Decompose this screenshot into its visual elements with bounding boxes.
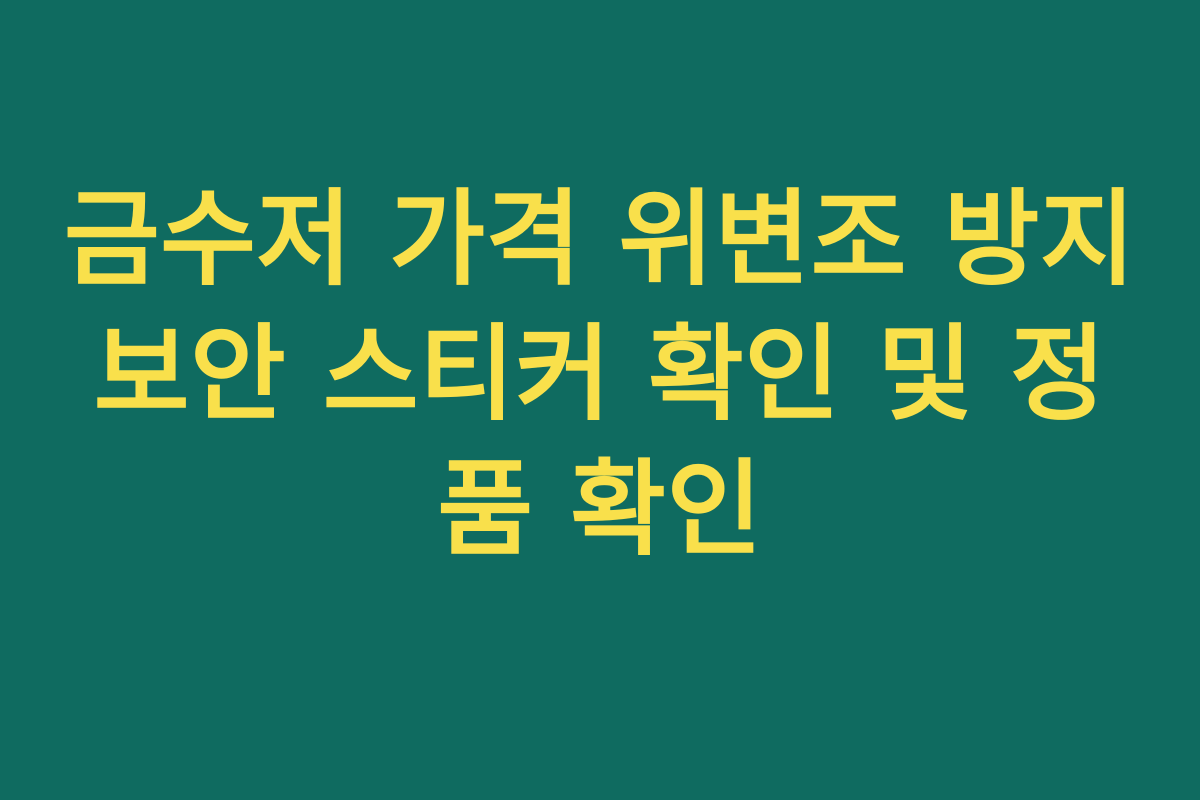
- page-title-line-1: 금수저 가격 위변조 방지: [55, 172, 1145, 307]
- page-title-line-3: 품 확인: [55, 442, 1145, 577]
- page-title: 금수저 가격 위변조 방지 보안 스티커 확인 및 정품 확인 금수저 가격 위…: [55, 172, 1145, 577]
- page-title-line-2: 보안 스티커 확인 및 정: [55, 307, 1145, 442]
- title-banner: 금수저 가격 위변조 방지 보안 스티커 확인 및 정품 확인 금수저 가격 위…: [0, 0, 1200, 800]
